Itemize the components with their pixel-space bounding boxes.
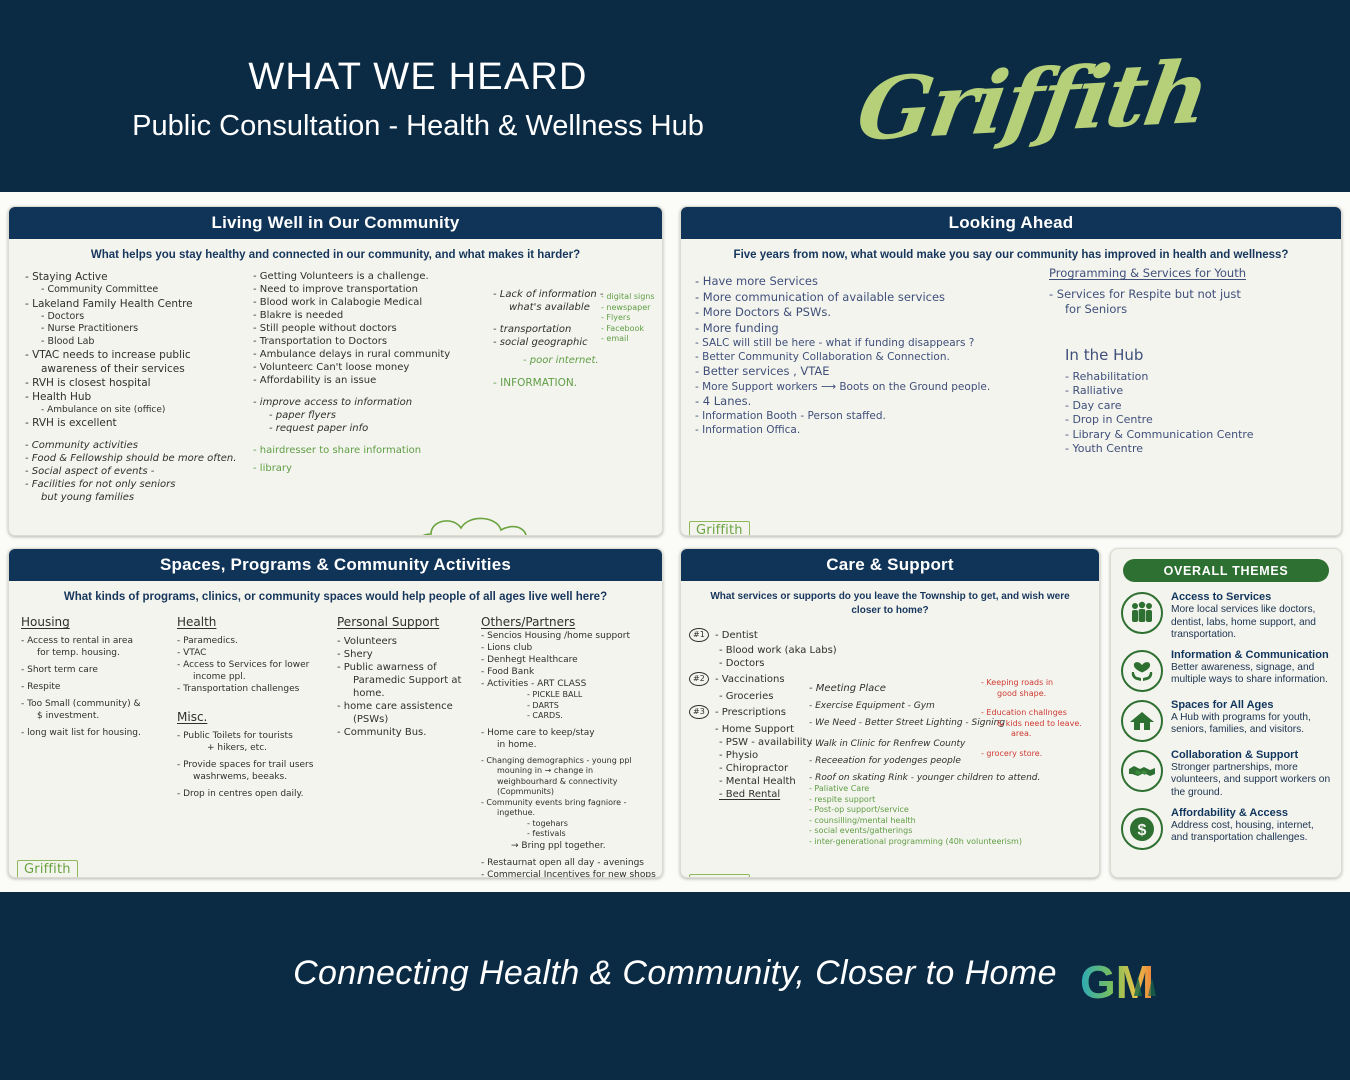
health-heading: Health xyxy=(177,614,327,630)
the-hub-label: The Hub xyxy=(441,534,496,536)
handshake-icon xyxy=(1121,750,1163,792)
care-middle-column: - Meeting Place - Exercise Equipment - G… xyxy=(809,682,999,852)
panel-overall-themes: OVERALL THEMES Access to Services More l… xyxy=(1110,548,1342,878)
care-right-red-column: - Keeping roads in good shape. - Educati… xyxy=(981,678,1100,759)
panel-looking-ahead: Looking Ahead Five years from now, what … xyxy=(680,206,1342,536)
spaces-health-column: Health - Paramedics. - VTAC - Access to … xyxy=(177,614,327,800)
housing-heading: Housing xyxy=(21,614,171,630)
living-well-channels: - digital signs - newspaper - Flyers - F… xyxy=(601,292,663,345)
people-group-icon xyxy=(1121,592,1163,634)
others-partners-heading: Others/Partners xyxy=(481,614,661,630)
board-area: Living Well in Our Community What helps … xyxy=(0,192,1350,892)
page-title: WHAT WE HEARD xyxy=(0,54,836,100)
gm-logo-icon: GM xyxy=(1078,952,1170,1012)
cloud-shape-icon xyxy=(407,512,587,536)
spaces-others-partners-column: Others/Partners - Sencios Housing /home … xyxy=(481,614,661,878)
theme-row-affordability-access: $ Affordability & Access Address cost, h… xyxy=(1119,806,1333,850)
panel-living-well: Living Well in Our Community What helps … xyxy=(8,206,663,536)
personal-support-heading: Personal Support xyxy=(337,614,477,630)
poster-header: WHAT WE HEARD Public Consultation - Heal… xyxy=(0,0,1350,192)
griffith-mini-logo: Griffith xyxy=(17,860,78,878)
theme-row-access-to-services: Access to Services More local services l… xyxy=(1119,590,1333,642)
in-the-hub-heading: In the Hub xyxy=(1049,346,1329,365)
panel-spaces-question: What kinds of programs, clinics, or comm… xyxy=(9,581,662,608)
griffith-mini-logo: Griffith xyxy=(689,874,750,878)
rank-badge-1: #1 xyxy=(689,628,709,642)
heart-in-hands-icon xyxy=(1121,650,1163,692)
panel-care-title: Care & Support xyxy=(681,549,1099,581)
house-icon xyxy=(1121,700,1163,742)
youth-programming-heading: Programming & Services for Youth xyxy=(1049,266,1329,282)
dollar-coin-icon: $ xyxy=(1121,808,1163,850)
theme-text: Collaboration & Support Stronger partner… xyxy=(1171,748,1333,800)
theme-text: Information & Communication Better aware… xyxy=(1171,648,1333,687)
looking-ahead-column-1: - Have more Services - More communicatio… xyxy=(695,274,1045,437)
spaces-housing-column: Housing - Access to rental in area for t… xyxy=(21,614,171,739)
spaces-personal-support-column: Personal Support - Volunteers - Shery - … xyxy=(337,614,477,739)
svg-text:GM: GM xyxy=(1080,956,1154,1008)
griffith-wordmark: Griffith xyxy=(849,36,1171,172)
rank-badge-2: #2 xyxy=(689,672,709,686)
misc-heading: Misc. xyxy=(177,709,327,725)
theme-row-information-communication: Information & Communication Better aware… xyxy=(1119,648,1333,692)
panel-living-well-question: What helps you stay healthy and connecte… xyxy=(9,239,662,266)
poster-root: WHAT WE HEARD Public Consultation - Heal… xyxy=(0,0,1350,1080)
theme-text: Access to Services More local services l… xyxy=(1171,590,1333,642)
panel-care-support: Care & Support What services or supports… xyxy=(680,548,1100,878)
living-well-column-2: - Getting Volunteers is a challenge. - N… xyxy=(253,270,483,475)
theme-row-spaces-for-all-ages: Spaces for All Ages A Hub with programs … xyxy=(1119,698,1333,742)
panel-spaces-title: Spaces, Programs & Community Activities xyxy=(9,549,662,581)
panel-spaces-programs: Spaces, Programs & Community Activities … xyxy=(8,548,663,878)
panel-care-question: What services or supports do you leave t… xyxy=(681,581,1099,622)
panel-looking-ahead-title: Looking Ahead xyxy=(681,207,1341,239)
living-well-column-1: - Staying Active - Community Committee -… xyxy=(25,270,250,504)
svg-text:$: $ xyxy=(1138,822,1147,839)
panel-living-well-title: Living Well in Our Community xyxy=(9,207,662,239)
looking-ahead-column-2: Programming & Services for Youth - Servi… xyxy=(1049,266,1329,457)
griffith-mini-logo: Griffith xyxy=(689,521,750,536)
theme-text: Spaces for All Ages A Hub with programs … xyxy=(1171,698,1333,737)
rank-badge-3: #3 xyxy=(689,705,709,719)
the-hub-cloud: The Hub - Hairdresser - Pine Valley xyxy=(407,512,587,536)
theme-row-collaboration-support: Collaboration & Support Stronger partner… xyxy=(1119,748,1333,800)
header-titles: WHAT WE HEARD Public Consultation - Heal… xyxy=(0,54,836,146)
overall-themes-title: OVERALL THEMES xyxy=(1123,559,1329,582)
panel-looking-ahead-question: Five years from now, what would make you… xyxy=(681,239,1341,266)
page-subtitle: Public Consultation - Health & Wellness … xyxy=(0,106,836,146)
theme-text: Affordability & Access Address cost, hou… xyxy=(1171,806,1333,845)
